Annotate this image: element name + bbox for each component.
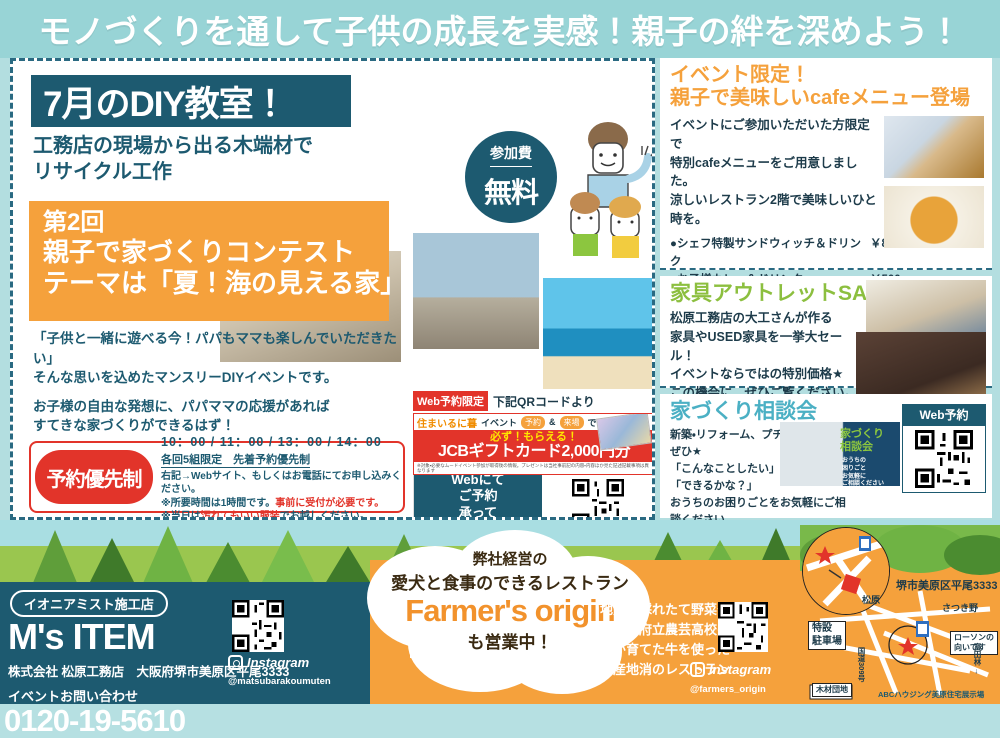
contest-round: 第2回: [43, 209, 389, 237]
jcb-pill-reserve: 予約: [521, 416, 545, 429]
contest-box: 第2回 親子で家づくりコンテスト テーマは「夏！海の見える家」: [29, 201, 389, 321]
company-qr[interactable]: [232, 600, 284, 657]
description-paragraph-1: 「子供と一緒に遊べる今！パパもママも楽しんでいただきたい」 そんな思いを込めたマ…: [33, 329, 423, 388]
photo-consultation-house: 家づくり 相談会 おうちの 困りごと お気軽に ご相談ください: [780, 422, 900, 486]
restaurant-line-1: 弊社経営の: [360, 548, 660, 569]
photo-furniture-tables: [866, 280, 986, 332]
web-header: Web予約限定 下記QRコードより: [413, 391, 655, 411]
restaurant-instagram-handle: @farmers_origin: [690, 684, 766, 695]
jcb-event-label: イベント: [481, 416, 517, 429]
location-map: 堺市美原区平尾3333 特設 駐車場 ローソンの 向いです さつき野 松原 木材…: [800, 525, 1000, 704]
map-address-label: 堺市美原区平尾3333: [896, 577, 997, 593]
reservation-strip: 予約優先制 10：00 / 11：00 / 13：00 / 14：00 各回5組…: [29, 441, 405, 513]
reservation-badge: 予約優先制: [35, 450, 153, 504]
instagram-icon: [228, 655, 243, 670]
consultation-card: 家づくり 相談会 おうちの 困りごと お気軽に ご相談ください Web予約: [660, 394, 992, 518]
company-brand: M's ITEM: [8, 619, 370, 655]
photo-sandwich: [884, 116, 984, 178]
map-parking-label: 特設 駐車場: [808, 621, 846, 650]
map-kizai-label: 木材団地: [812, 683, 852, 697]
reservation-note-3: ※当日は汚れてもいい服装でお越しください。: [161, 510, 403, 520]
photo-curry: [884, 186, 984, 248]
map-satsukino-label: さつき野: [942, 601, 978, 614]
reservation-note-1: 右記→Webサイト、もしくはお電話にてお申し込みください。: [161, 470, 403, 497]
map-matsubara-label: 松原: [862, 593, 880, 606]
map-route-right-label: 富田林 →: [972, 643, 983, 675]
web-reservation-qr[interactable]: [542, 475, 654, 520]
photo-beach: [541, 276, 655, 391]
reservation-details: 10：00 / 11：00 / 13：00 / 14：00 各回5組限定 先着予…: [153, 431, 403, 521]
jcb-pill-visit: 来場: [560, 416, 584, 429]
fee-value: 無料: [484, 171, 538, 211]
consultation-web-reservation[interactable]: Web予約: [902, 404, 986, 493]
cafe-card: イベント限定！ 親子で美味しいcafeメニュー登場 イベントにご参加いただいた方…: [660, 58, 992, 270]
contest-name: 親子で家づくりコンテスト: [43, 237, 389, 268]
restaurant-line-2: 愛犬と食事のできるレストラン: [360, 569, 660, 594]
right-sidebar: イベント限定！ 親子で美味しいcafeメニュー登場 イベントにご参加いただいた方…: [660, 58, 992, 524]
main-event-card: 7月のDIY教室！ 工務店の現場から出る木端材で リサイクル工作 第2回 親子で…: [10, 58, 655, 520]
map-route309-label: 国道309号: [856, 647, 867, 682]
reservation-limit: 各回5組限定 先着予約優先制: [161, 451, 310, 468]
web-qr-instruction: 下記QRコードより: [493, 393, 595, 410]
reservation-times: 10：00 / 11：00 / 13：00 / 14：00: [161, 431, 403, 450]
instagram-label: Instagram: [247, 655, 309, 670]
furniture-sale-card: 家具アウトレットSALE 松原工務店の大工さんが作る 家具やUSED家具を一挙大…: [660, 276, 992, 388]
furniture-body: 松原工務店の大工さんが作る 家具やUSED家具を一挙大セール！ イベントならでは…: [670, 309, 860, 403]
photo-furniture-sofa: [856, 332, 986, 394]
banner-headline: モノづくりを通して子供の成長を実感！親子の絆を深めよう！: [38, 5, 961, 53]
qr-code-icon: [232, 600, 284, 652]
jcb-fine-print: ※対象・必要なムードイベント参加が取得後の情報。プレゼントは当社事前記の内容・内…: [414, 462, 654, 475]
web-cta-row: Webにて ご予約 承って おります: [413, 475, 655, 520]
map-abc-label: ABCハウジング美原住宅展示場: [878, 689, 984, 700]
menu-item-name: ●シェフ特製サンドウィッチ＆ドリンク: [670, 235, 870, 272]
web-reservation-box: Web予約限定 下記QRコードより 住まいるに暮 イベント 予約 & 来場 で …: [413, 391, 655, 515]
reservation-note-2: ※所要時間は1時間です。事前に受付が必要です。: [161, 497, 403, 511]
jcb-gift-banner: 住まいるに暮 イベント 予約 & 来場 で 必ず！もらえる！ JCBギフトカード…: [413, 413, 655, 475]
contest-theme: テーマは「夏！海の見える家」: [43, 268, 389, 299]
house-banner-caption: 家づくり 相談会: [840, 428, 896, 453]
event-subtitle: 工務店の現場から出る木端材で リサイクル工作: [33, 133, 433, 185]
cafe-title: イベント限定！ 親子で美味しいcafeメニュー登場: [670, 64, 982, 110]
top-banner: モノづくりを通して子供の成長を実感！親子の絆を深めよう！: [0, 0, 1000, 58]
note-3-pre: ※当日は: [161, 511, 201, 520]
photo-construction-site: [411, 231, 541, 351]
company-instagram[interactable]: Instagram: [228, 655, 309, 670]
restaurant-qr[interactable]: [718, 602, 768, 657]
qr-code-icon: [718, 602, 768, 652]
web-reservation-label: Web予約: [902, 404, 986, 425]
note-3-highlight: 汚れてもいい服装: [201, 511, 280, 520]
web-cta-text: Webにて ご予約 承って おります: [414, 475, 542, 520]
footer-pill-label: イオニアミスト施工店: [10, 590, 168, 617]
flyer-page: モノづくりを通して子供の成長を実感！親子の絆を深めよう！ 7月のDIY教室！ 工…: [0, 0, 1000, 704]
web-only-tag: Web予約限定: [413, 391, 488, 411]
event-title: 7月のDIY教室！: [43, 76, 287, 127]
event-title-box: 7月のDIY教室！: [31, 75, 351, 127]
consultation-qr[interactable]: [902, 425, 986, 493]
note-3-post: でお越しください。: [280, 511, 370, 520]
qr-code-icon: [572, 479, 624, 521]
jcb-de: で: [588, 416, 597, 429]
jcb-guarantee-line: 必ず！もらえる！: [490, 432, 578, 443]
sumairu-logo: 住まいるに暮: [417, 415, 477, 430]
instagram-label: Instagram: [709, 662, 771, 677]
company-instagram-handle: @matsubarakoumuten: [228, 676, 331, 687]
jcb-ampersand: &: [549, 417, 556, 427]
fee-caption: 参加費: [490, 143, 532, 167]
participation-fee-badge: 参加費 無料: [465, 131, 557, 223]
inquiry-phone[interactable]: 0120-19-5610: [4, 705, 370, 736]
note-2-highlight: 事前に受付が必要です。: [275, 498, 384, 509]
qr-code-icon: [915, 430, 973, 488]
note-2-pre: ※所要時間は1時間です。: [161, 498, 275, 509]
cafe-body: イベントにご参加いただいた方限定で 特別cafeメニューをご用意しました。 涼し…: [670, 116, 880, 229]
family-illustration: [553, 121, 655, 261]
restaurant-instagram[interactable]: Instagram: [690, 662, 771, 677]
instagram-icon: [690, 662, 705, 677]
house-banner-sub: おうちの 困りごと お気軽に ご相談ください: [842, 458, 896, 489]
